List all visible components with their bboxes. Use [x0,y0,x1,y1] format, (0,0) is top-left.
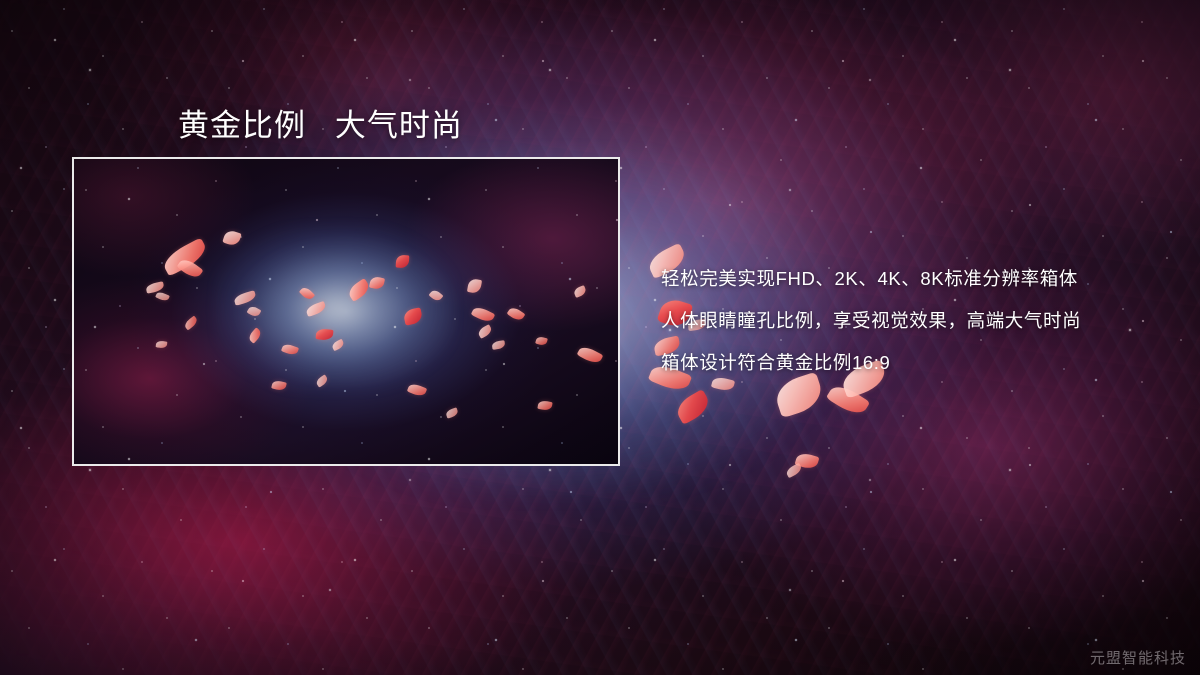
feature-description-block: 轻松完美实现FHD、2K、4K、8K标准分辨率箱体 人体眼睛瞳孔比例，享受视觉效… [661,258,1181,384]
presentation-slide: 黄金比例 大气时尚 轻松完美实现FHD、2K、4K、8K标准分辨率箱体 人体眼睛… [0,0,1200,675]
page-title: 黄金比例 大气时尚 [178,100,463,145]
preview-image-frame[interactable] [72,157,620,466]
feature-line-3: 箱体设计符合黄金比例16:9 [661,342,1181,384]
feature-line-1: 轻松完美实现FHD、2K、4K、8K标准分辨率箱体 [661,258,1181,300]
feature-line-2: 人体眼睛瞳孔比例，享受视觉效果，高端大气时尚 [661,300,1181,342]
company-watermark: 元盟智能科技 [1090,647,1186,668]
